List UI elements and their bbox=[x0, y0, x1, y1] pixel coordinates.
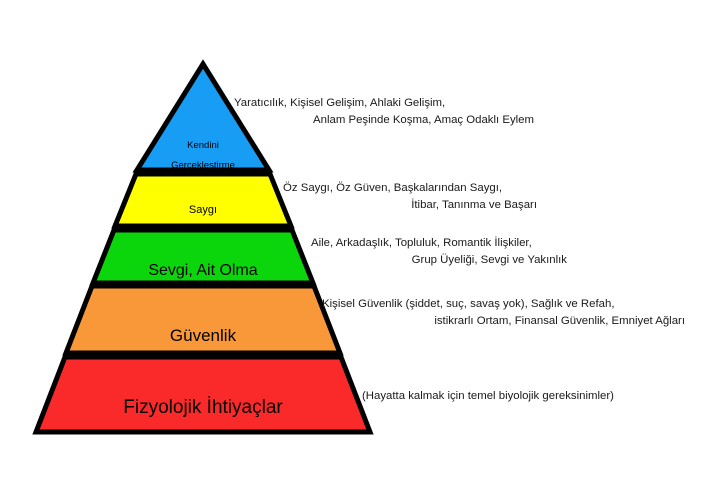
description-love-belonging: Aile, Arkadaşlık, Topluluk, Romantik İli… bbox=[311, 235, 567, 268]
description-physiological-line1: (Hayatta kalmak için temel biyolojik ger… bbox=[362, 388, 662, 405]
pyramid-tier-physiological-shape[interactable] bbox=[36, 357, 370, 432]
description-self-actualization: Yaratıcılık, Kişisel Gelişim, Ahlaki Gel… bbox=[234, 95, 534, 128]
pyramid-tier-love-belonging-shape[interactable] bbox=[93, 230, 313, 283]
pyramid-tier-safety-shape[interactable] bbox=[66, 286, 340, 353]
maslow-pyramid-diagram: Kendini Gerçekleştirme Saygı Sevgi, Ait … bbox=[0, 0, 709, 493]
description-love-belonging-line1: Aile, Arkadaşlık, Topluluk, Romantik İli… bbox=[311, 235, 567, 252]
description-love-belonging-line2: Grup Üyeliği, Sevgi ve Yakınlık bbox=[311, 252, 567, 269]
description-safety: Kişisel Güvenlik (şiddet, suç, savaş yok… bbox=[322, 296, 685, 329]
pyramid-tier-esteem-shape[interactable] bbox=[115, 174, 291, 226]
description-esteem-line2: İtibar, Tanınma ve Başarı bbox=[283, 197, 537, 214]
description-self-actualization-line2: Anlam Peşinde Koşma, Amaç Odaklı Eylem bbox=[234, 112, 534, 129]
description-self-actualization-line1: Yaratıcılık, Kişisel Gelişim, Ahlaki Gel… bbox=[234, 95, 534, 112]
description-physiological: (Hayatta kalmak için temel biyolojik ger… bbox=[362, 388, 662, 405]
description-esteem-line1: Öz Saygı, Öz Güven, Başkalarından Saygı, bbox=[283, 180, 537, 197]
description-safety-line1: Kişisel Güvenlik (şiddet, suç, savaş yok… bbox=[322, 296, 685, 313]
description-esteem: Öz Saygı, Öz Güven, Başkalarından Saygı,… bbox=[283, 180, 537, 213]
description-safety-line2: istikrarlı Ortam, Finansal Güvenlik, Emn… bbox=[322, 313, 685, 330]
